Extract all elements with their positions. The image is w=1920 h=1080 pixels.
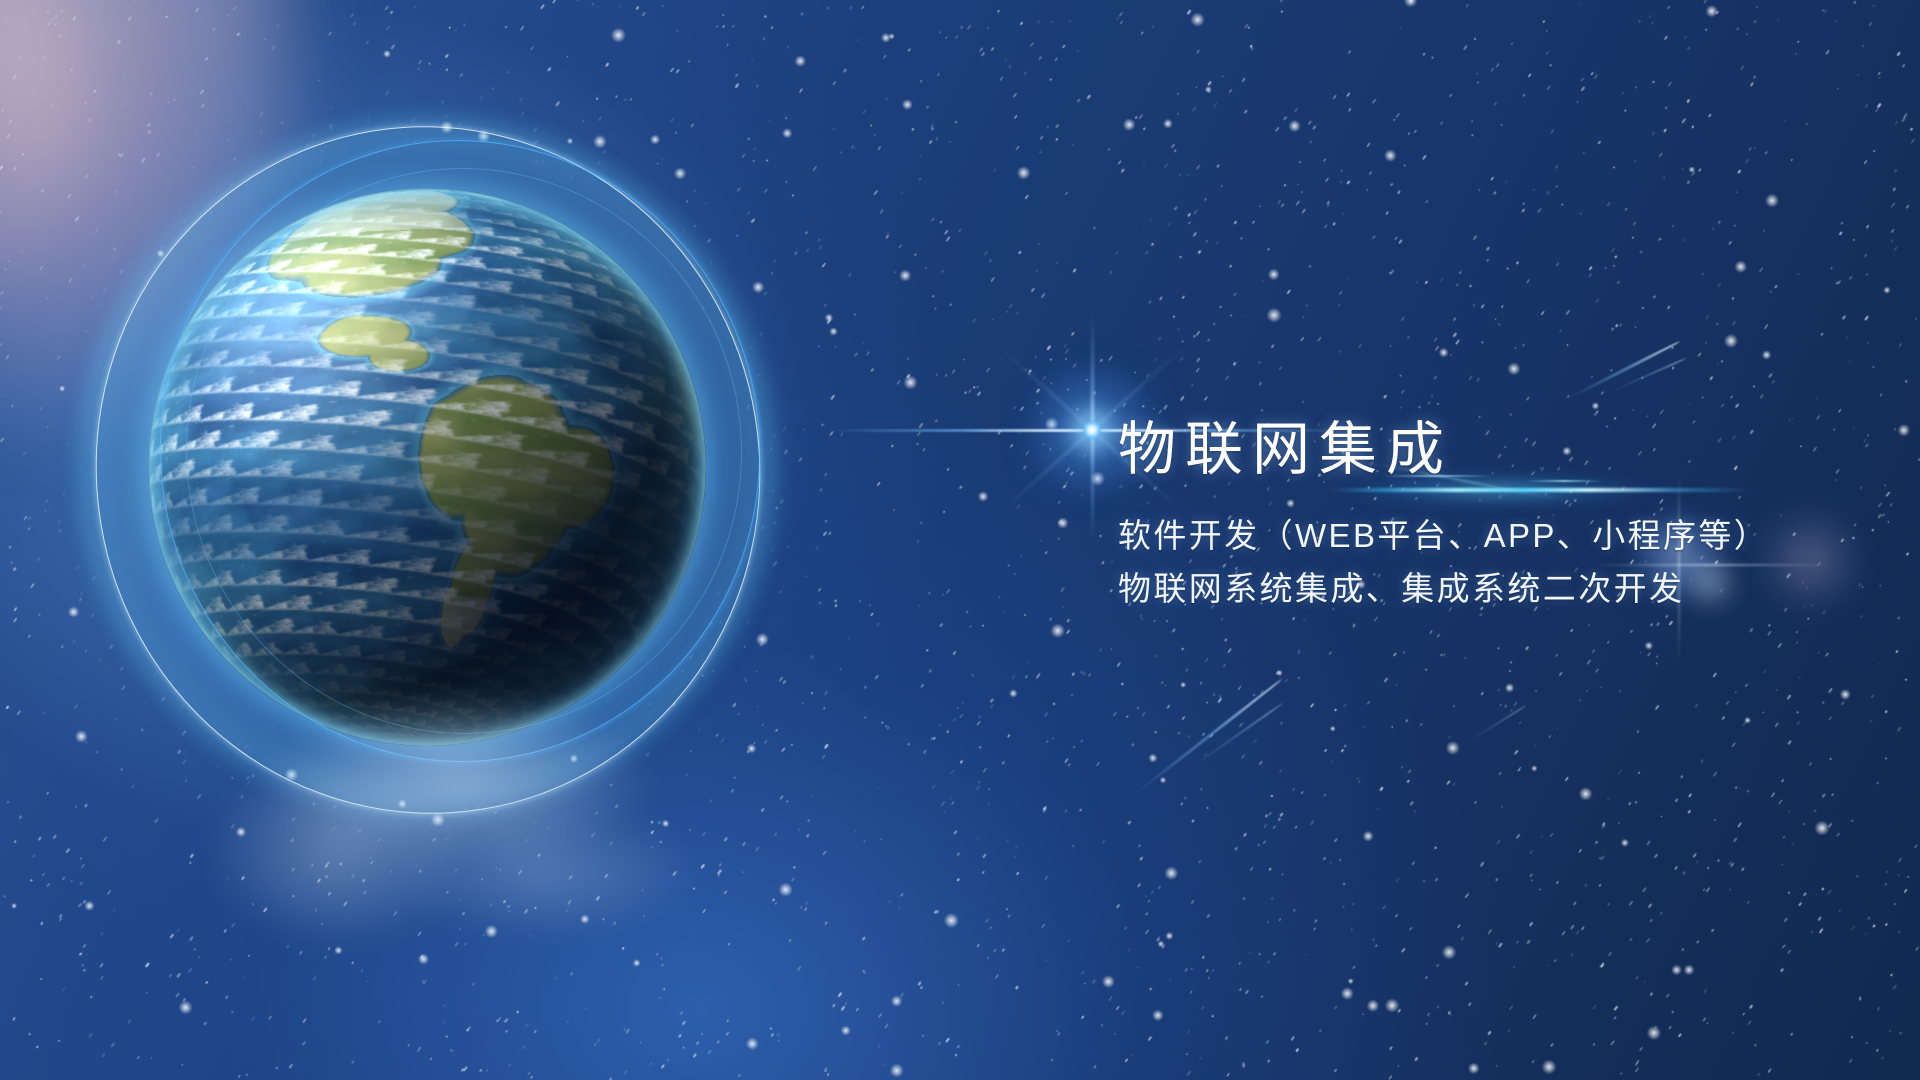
subtitle-line-1: 软件开发（WEB平台、APP、小程序等）: [1118, 509, 1878, 562]
banner-stage: 物联网集成 软件开发（WEB平台、APP、小程序等） 物联网系统集成、集成系统二…: [0, 0, 1920, 1080]
banner-subtitle: 软件开发（WEB平台、APP、小程序等） 物联网系统集成、集成系统二次开发: [1118, 509, 1878, 616]
subtitle-line-2: 物联网系统集成、集成系统二次开发: [1118, 562, 1878, 615]
banner-copy: 物联网集成 软件开发（WEB平台、APP、小程序等） 物联网系统集成、集成系统二…: [1118, 418, 1878, 616]
page-title: 物联网集成: [1118, 418, 1878, 483]
